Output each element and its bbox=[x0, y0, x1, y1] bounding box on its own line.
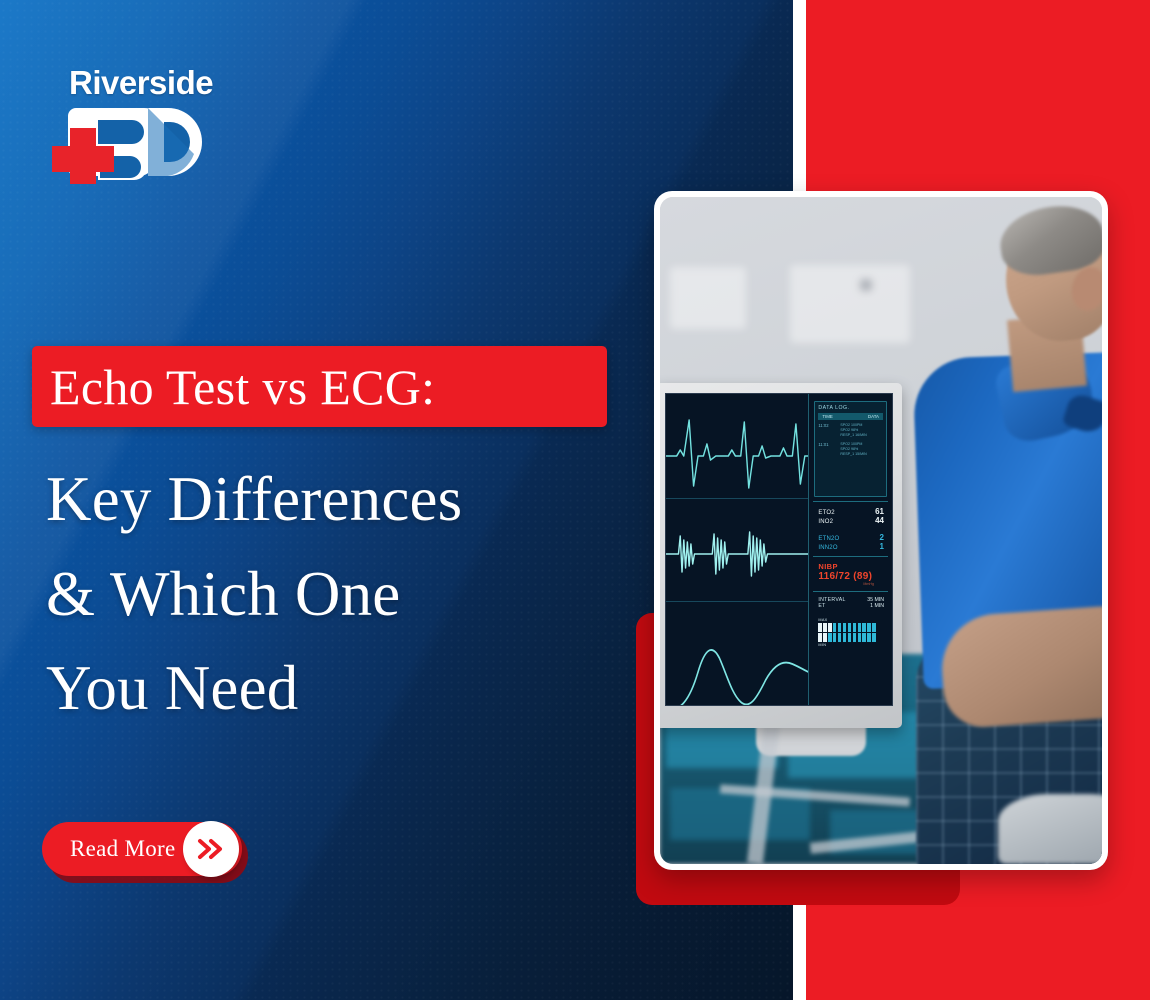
data-log-time: 11:02 bbox=[818, 423, 834, 439]
headline-line-1: Key Differences bbox=[46, 452, 626, 547]
level-bar bbox=[848, 623, 851, 632]
level-bar bbox=[858, 633, 861, 642]
wall-fixture bbox=[860, 279, 872, 291]
nibp-label: NIBP bbox=[818, 562, 884, 571]
level-bar bbox=[823, 633, 826, 642]
level-bar bbox=[838, 633, 841, 642]
level-bar bbox=[828, 623, 831, 632]
level-bar bbox=[862, 623, 865, 632]
reading-value: 61 bbox=[875, 507, 884, 516]
headline-line-3: You Need bbox=[46, 641, 626, 736]
level-bar bbox=[853, 633, 856, 642]
brand-logo[interactable]: Riverside bbox=[52, 64, 232, 184]
reading-row: INO2 44 bbox=[818, 516, 884, 525]
nibp-block: NIBP 116/72 (89) MmHg bbox=[813, 556, 888, 591]
reading-row: ETO2 61 bbox=[818, 507, 884, 516]
level-bar bbox=[858, 623, 861, 632]
data-log-values: SPO2 100PM SPO2 98% RESP_1 16/MIN bbox=[840, 423, 866, 439]
read-more-arrow-button[interactable] bbox=[183, 821, 239, 877]
level-bar bbox=[828, 633, 831, 642]
data-log-title: DATA LOG. bbox=[815, 402, 886, 411]
level-bar bbox=[823, 623, 826, 632]
bars-max-label: MAX bbox=[818, 618, 884, 622]
clinician-figure bbox=[886, 197, 1102, 864]
reading-label: ETN2O bbox=[818, 536, 839, 542]
read-more-label: Read More bbox=[42, 836, 176, 862]
interval-block: INTERVAL 35 MIN ET 1 MIN bbox=[813, 591, 888, 614]
waveform-area bbox=[666, 394, 808, 705]
level-bar bbox=[872, 623, 875, 632]
patient-monitor: DATA LOG. TIME DATA 11:02 SPO2 100PM bbox=[660, 383, 902, 728]
reading-row: ETN2O 2 bbox=[818, 533, 884, 542]
reading-label: INO2 bbox=[818, 519, 833, 525]
interval-value: 1 MIN bbox=[870, 603, 884, 609]
level-bar bbox=[818, 623, 821, 632]
title-band-text: Echo Test vs ECG: bbox=[32, 362, 435, 412]
nibp-unit: MmHg bbox=[818, 582, 884, 586]
reading-label: ETO2 bbox=[818, 510, 834, 516]
level-bar bbox=[833, 633, 836, 642]
interval-row: ET 1 MIN bbox=[818, 603, 884, 609]
reading-value: 44 bbox=[875, 516, 884, 525]
data-log-panel: DATA LOG. TIME DATA 11:02 SPO2 100PM bbox=[814, 401, 887, 497]
level-bar bbox=[843, 623, 846, 632]
data-log-time: 11:01 bbox=[818, 442, 834, 458]
logomark-svg bbox=[52, 100, 232, 184]
reading-value: 1 bbox=[880, 542, 884, 551]
data-log-row: 11:02 SPO2 100PM SPO2 98% RESP_1 16/MIN bbox=[815, 420, 886, 439]
brand-logomark bbox=[52, 100, 232, 184]
data-log-row: 11:01 SPO2 100PM SPO2 98% RESP_1 15/MIN bbox=[815, 439, 886, 458]
reading-value: 2 bbox=[880, 533, 884, 542]
waveform-divider-1 bbox=[666, 498, 808, 499]
headline-line-2: & Which One bbox=[46, 547, 626, 642]
headline: Key Differences & Which One You Need bbox=[46, 452, 626, 736]
brand-name-text: Riverside bbox=[69, 64, 213, 102]
data-log-header: TIME DATA bbox=[818, 413, 883, 420]
level-bar bbox=[867, 623, 870, 632]
reading-row: INN2O 1 bbox=[818, 542, 884, 551]
nibp-value: 116/72 (89) bbox=[818, 571, 884, 582]
monitor-data-panel: DATA LOG. TIME DATA 11:02 SPO2 100PM bbox=[808, 394, 892, 705]
shoe bbox=[998, 794, 1102, 864]
ecg-waveform bbox=[666, 400, 808, 496]
wall-poster-left bbox=[670, 267, 746, 329]
data-log-value: RESP_1 16/MIN bbox=[840, 433, 866, 438]
interval-label: ET bbox=[818, 603, 825, 609]
photo-card: DATA LOG. TIME DATA 11:02 SPO2 100PM bbox=[654, 191, 1108, 870]
level-bar bbox=[853, 623, 856, 632]
poster-canvas: Riverside bbox=[0, 0, 1150, 1000]
pleth-waveform bbox=[666, 616, 808, 706]
clinic-photo: DATA LOG. TIME DATA 11:02 SPO2 100PM bbox=[660, 197, 1102, 864]
reading-label: INN2O bbox=[818, 545, 837, 551]
level-bar bbox=[838, 623, 841, 632]
respiration-waveform bbox=[666, 506, 808, 602]
level-bar bbox=[843, 633, 846, 642]
monitor-screen: DATA LOG. TIME DATA 11:02 SPO2 100PM bbox=[665, 393, 893, 706]
bars-row-upper bbox=[818, 623, 884, 632]
title-band: Echo Test vs ECG: bbox=[32, 346, 607, 427]
level-bar bbox=[867, 633, 870, 642]
level-bar bbox=[848, 633, 851, 642]
level-bar bbox=[833, 623, 836, 632]
bars-row-lower bbox=[818, 633, 884, 642]
bars-min-label: MIN bbox=[818, 643, 884, 647]
double-chevron-right-icon bbox=[196, 838, 226, 860]
data-log-col-time: TIME bbox=[822, 414, 833, 419]
level-bar bbox=[872, 633, 875, 642]
data-log-values: SPO2 100PM SPO2 98% RESP_1 15/MIN bbox=[840, 442, 866, 458]
level-bar bbox=[818, 633, 821, 642]
level-bar bbox=[862, 633, 865, 642]
data-log-value: RESP_1 15/MIN bbox=[840, 452, 866, 457]
level-bars-block: MAX MIN bbox=[813, 614, 888, 647]
data-log-col-data: DATA bbox=[868, 414, 879, 419]
gas-readings-block: ETO2 61 INO2 44 ETN2O 2 bbox=[813, 501, 888, 556]
